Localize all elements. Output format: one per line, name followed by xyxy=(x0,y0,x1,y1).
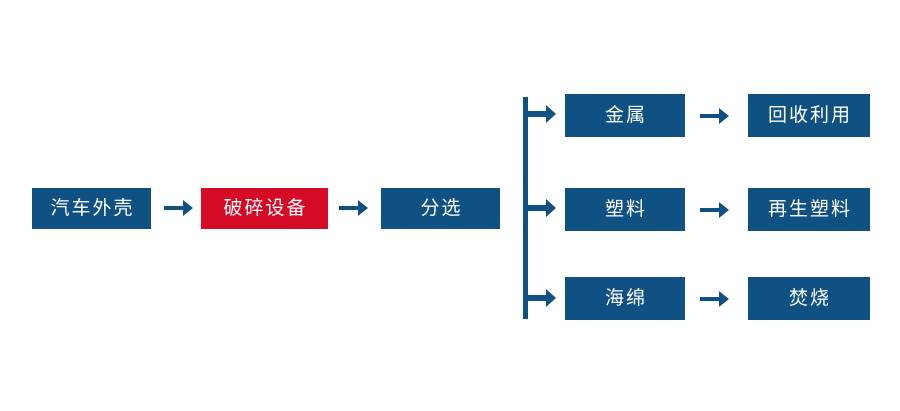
arrow-branch-to-sponge xyxy=(527,287,556,309)
arrow-branch-to-plastic xyxy=(527,197,556,219)
node-metal-output-label: 回收利用 xyxy=(766,106,852,125)
arrow-branch-to-metal xyxy=(527,103,556,125)
arrow-metal-to-recycle xyxy=(700,104,729,128)
arrow-source-to-shredder xyxy=(164,196,193,220)
node-sponge-output[interactable]: 焚烧 xyxy=(748,277,870,320)
node-shredder[interactable]: 破碎设备 xyxy=(201,188,328,229)
node-sorting-label: 分选 xyxy=(418,199,462,218)
node-sponge[interactable]: 海绵 xyxy=(565,277,685,320)
arrow-sponge-to-incineration xyxy=(700,287,729,311)
node-metal[interactable]: 金属 xyxy=(565,94,685,137)
node-metal-label: 金属 xyxy=(603,106,647,125)
arrow-plastic-to-regen xyxy=(700,198,729,222)
node-shredder-label: 破碎设备 xyxy=(221,199,307,218)
node-source[interactable]: 汽车外壳 xyxy=(32,188,151,229)
node-metal-output[interactable]: 回收利用 xyxy=(748,94,870,137)
node-plastic-output[interactable]: 再生塑料 xyxy=(748,188,870,231)
node-plastic-output-label: 再生塑料 xyxy=(766,200,852,219)
arrow-shredder-to-sorting xyxy=(339,196,368,220)
node-plastic-label: 塑料 xyxy=(603,200,647,219)
node-sponge-label: 海绵 xyxy=(603,289,647,308)
flowchart-canvas: 汽车外壳 破碎设备 分选 金属 xyxy=(0,0,900,411)
node-source-label: 汽车外壳 xyxy=(48,199,134,218)
node-sorting[interactable]: 分选 xyxy=(381,188,500,229)
node-plastic[interactable]: 塑料 xyxy=(565,188,685,231)
node-sponge-output-label: 焚烧 xyxy=(787,289,831,308)
